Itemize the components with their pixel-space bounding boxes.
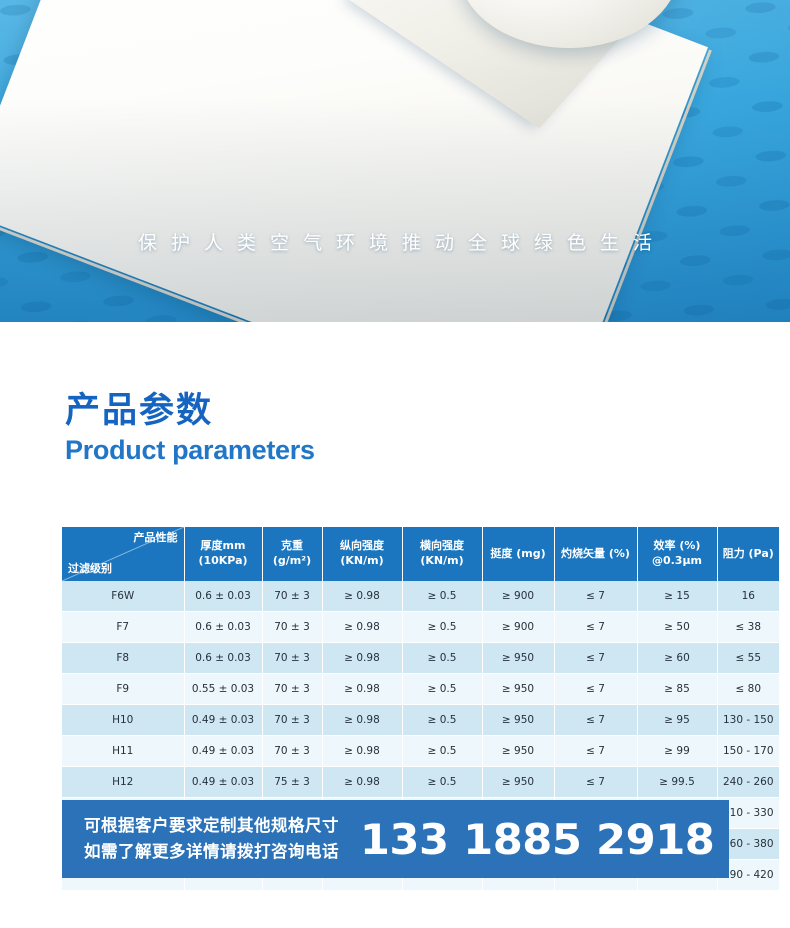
cell-grade: H11 [62, 736, 184, 767]
cta-text-block: 可根据客户要求定制其他规格尺寸 如需了解更多详情请拨打咨询电话 [84, 813, 339, 864]
cell-resistance: 16 [717, 581, 779, 612]
corner-label-grade: 过滤级别 [68, 562, 112, 577]
cell-resistance: 150 - 170 [717, 736, 779, 767]
cell-resistance: ≤ 38 [717, 612, 779, 643]
header-line-2: @0.3μm [640, 554, 715, 569]
cell-efficiency: ≥ 60 [637, 643, 717, 674]
cell-stiffness: ≥ 950 [482, 705, 554, 736]
cell-md-strength: ≥ 0.98 [322, 581, 402, 612]
cell-grade: F7 [62, 612, 184, 643]
header-line-1: 灼烧矢量 (%) [557, 547, 635, 562]
cell-grade: F9 [62, 674, 184, 705]
cell-stiffness: ≥ 950 [482, 736, 554, 767]
cell-cd-strength: ≥ 0.5 [402, 581, 482, 612]
cell-md-strength: ≥ 0.98 [322, 674, 402, 705]
cell-resistance: ≤ 80 [717, 674, 779, 705]
cell-md-strength: ≥ 0.98 [322, 612, 402, 643]
hero-vignette [0, 0, 790, 322]
cell-thickness: 0.55 ± 0.03 [184, 674, 262, 705]
header-line-1: 阻力 (Pa) [720, 547, 778, 562]
cell-burn: ≤ 7 [554, 767, 637, 798]
table-row: H120.49 ± 0.0375 ± 3≥ 0.98≥ 0.5≥ 950≤ 7≥… [62, 767, 779, 798]
column-header-md-strength: 纵向强度 (KN/m) [322, 527, 402, 581]
column-header-resistance: 阻力 (Pa) [717, 527, 779, 581]
header-line-1: 纵向强度 [325, 539, 400, 554]
column-header-weight: 克重 (g/m²) [262, 527, 322, 581]
cell-thickness: 0.6 ± 0.03 [184, 581, 262, 612]
cell-efficiency: ≥ 85 [637, 674, 717, 705]
header-line-2: (10KPa) [187, 554, 260, 569]
column-header-cd-strength: 横向强度 (KN/m) [402, 527, 482, 581]
cell-weight: 75 ± 3 [262, 767, 322, 798]
cell-burn: ≤ 7 [554, 581, 637, 612]
cell-efficiency: ≥ 99 [637, 736, 717, 767]
column-header-thickness: 厚度mm (10KPa) [184, 527, 262, 581]
header-line-1: 横向强度 [405, 539, 480, 554]
header-line-1: 效率 (%) [640, 539, 715, 554]
table-row: F70.6 ± 0.0370 ± 3≥ 0.98≥ 0.5≥ 900≤ 7≥ 5… [62, 612, 779, 643]
table-header: 产品性能 过滤级别 厚度mm (10KPa) 克重 (g/m²) 纵向强度 (K… [62, 527, 779, 581]
cell-grade: F8 [62, 643, 184, 674]
cell-weight: 70 ± 3 [262, 643, 322, 674]
cell-resistance: 130 - 150 [717, 705, 779, 736]
column-header-burn: 灼烧矢量 (%) [554, 527, 637, 581]
cell-stiffness: ≥ 950 [482, 643, 554, 674]
header-line-1: 克重 (g/m²) [265, 539, 320, 569]
cell-efficiency: ≥ 15 [637, 581, 717, 612]
header-line-2: (KN/m) [325, 554, 400, 569]
cell-md-strength: ≥ 0.98 [322, 736, 402, 767]
cta-line-1: 可根据客户要求定制其他规格尺寸 [84, 813, 339, 839]
cell-weight: 70 ± 3 [262, 612, 322, 643]
cell-cd-strength: ≥ 0.5 [402, 705, 482, 736]
cell-efficiency: ≥ 50 [637, 612, 717, 643]
cell-thickness: 0.49 ± 0.03 [184, 705, 262, 736]
cell-resistance: ≤ 55 [717, 643, 779, 674]
cell-stiffness: ≥ 900 [482, 581, 554, 612]
table-row: F90.55 ± 0.0370 ± 3≥ 0.98≥ 0.5≥ 950≤ 7≥ … [62, 674, 779, 705]
cta-line-2: 如需了解更多详情请拨打咨询电话 [84, 839, 339, 865]
cell-stiffness: ≥ 950 [482, 674, 554, 705]
column-header-stiffness: 挺度 (mg) [482, 527, 554, 581]
cell-cd-strength: ≥ 0.5 [402, 612, 482, 643]
cell-cd-strength: ≥ 0.5 [402, 736, 482, 767]
cell-cd-strength: ≥ 0.5 [402, 643, 482, 674]
cell-burn: ≤ 7 [554, 705, 637, 736]
cell-stiffness: ≥ 900 [482, 612, 554, 643]
header-line-2: (KN/m) [405, 554, 480, 569]
cell-efficiency: ≥ 95 [637, 705, 717, 736]
cell-cd-strength: ≥ 0.5 [402, 674, 482, 705]
cell-resistance: 240 - 260 [717, 767, 779, 798]
table-header-row: 产品性能 过滤级别 厚度mm (10KPa) 克重 (g/m²) 纵向强度 (K… [62, 527, 779, 581]
hero-slogan: 保护人类空气环境推动全球绿色生活 [0, 228, 790, 255]
section-title-block: 产品参数 Product parameters [65, 392, 315, 467]
cell-thickness: 0.6 ± 0.03 [184, 643, 262, 674]
cell-burn: ≤ 7 [554, 736, 637, 767]
cell-md-strength: ≥ 0.98 [322, 705, 402, 736]
cta-phone-number[interactable]: 133 1885 2918 [360, 815, 715, 864]
corner-label-performance: 产品性能 [134, 531, 178, 546]
table-corner-cell: 产品性能 过滤级别 [62, 527, 184, 581]
cell-grade: F6W [62, 581, 184, 612]
header-line-1: 挺度 (mg) [485, 547, 552, 562]
cell-weight: 70 ± 3 [262, 581, 322, 612]
table-row: H100.49 ± 0.0370 ± 3≥ 0.98≥ 0.5≥ 950≤ 7≥… [62, 705, 779, 736]
cell-grade: H10 [62, 705, 184, 736]
cell-cd-strength: ≥ 0.5 [402, 767, 482, 798]
contact-cta-banner: 可根据客户要求定制其他规格尺寸 如需了解更多详情请拨打咨询电话 133 1885… [62, 800, 729, 878]
cell-burn: ≤ 7 [554, 674, 637, 705]
cell-md-strength: ≥ 0.98 [322, 767, 402, 798]
hero-banner: 保护人类空气环境推动全球绿色生活 [0, 0, 790, 322]
cell-thickness: 0.49 ± 0.03 [184, 736, 262, 767]
table-row: H110.49 ± 0.0370 ± 3≥ 0.98≥ 0.5≥ 950≤ 7≥… [62, 736, 779, 767]
table-row: F6W0.6 ± 0.0370 ± 3≥ 0.98≥ 0.5≥ 900≤ 7≥ … [62, 581, 779, 612]
cell-md-strength: ≥ 0.98 [322, 643, 402, 674]
cell-weight: 70 ± 3 [262, 674, 322, 705]
header-line-1: 厚度mm [187, 539, 260, 554]
column-header-efficiency: 效率 (%) @0.3μm [637, 527, 717, 581]
page-title-en: Product parameters [65, 434, 315, 466]
cell-burn: ≤ 7 [554, 643, 637, 674]
table-row: F80.6 ± 0.0370 ± 3≥ 0.98≥ 0.5≥ 950≤ 7≥ 6… [62, 643, 779, 674]
cell-weight: 70 ± 3 [262, 736, 322, 767]
page-title-cn: 产品参数 [65, 392, 315, 431]
cell-efficiency: ≥ 99.5 [637, 767, 717, 798]
cell-burn: ≤ 7 [554, 612, 637, 643]
cell-thickness: 0.49 ± 0.03 [184, 767, 262, 798]
cell-weight: 70 ± 3 [262, 705, 322, 736]
cell-thickness: 0.6 ± 0.03 [184, 612, 262, 643]
cell-stiffness: ≥ 950 [482, 767, 554, 798]
cell-grade: H12 [62, 767, 184, 798]
